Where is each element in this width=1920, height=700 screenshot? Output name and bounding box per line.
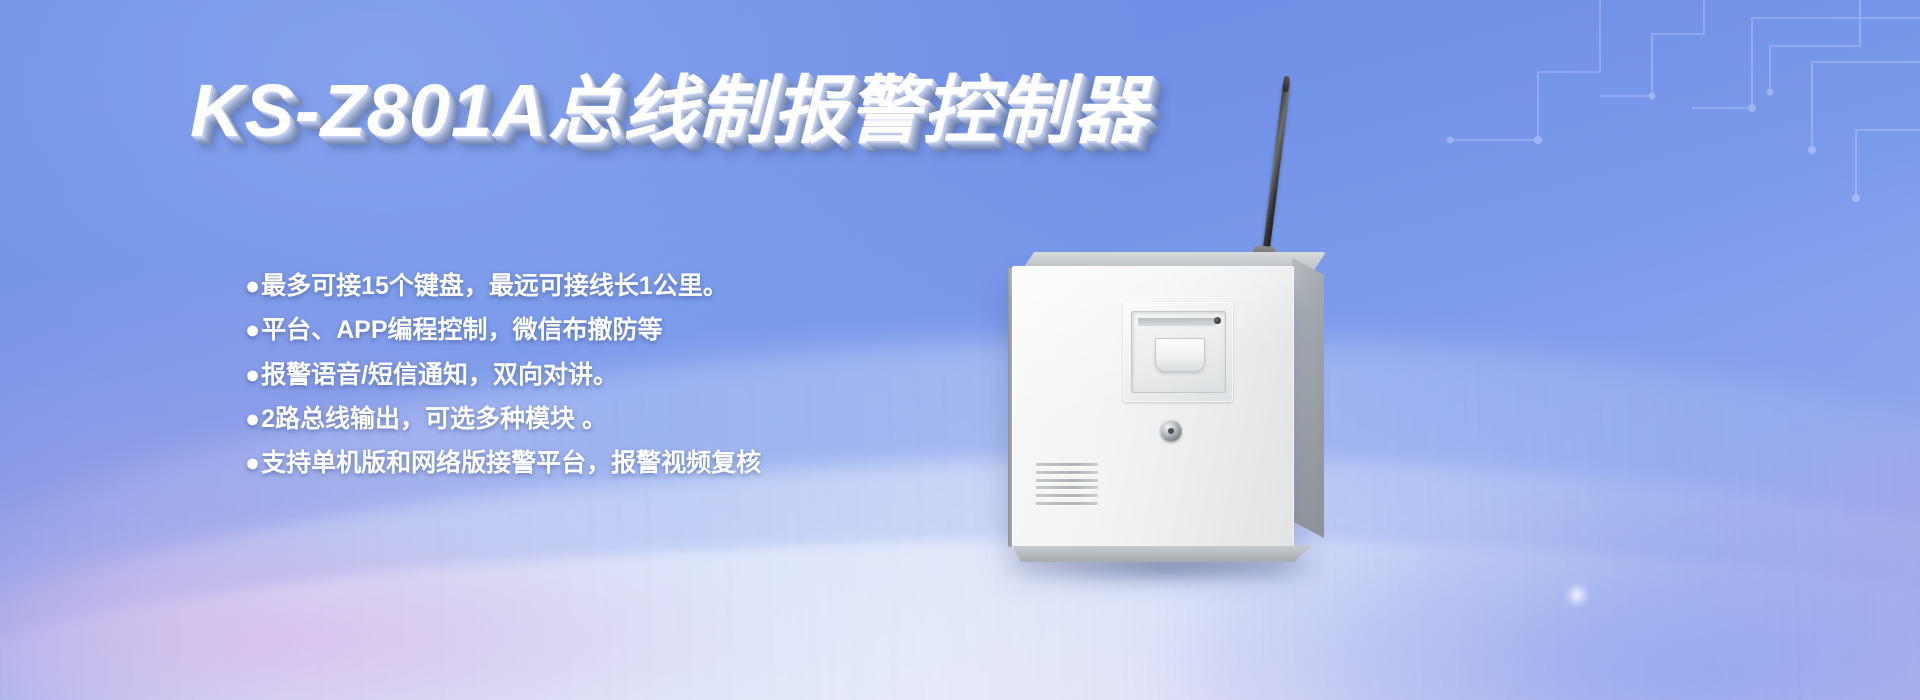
bullet-icon: ● [245, 362, 260, 388]
bullet-icon: ● [245, 273, 260, 299]
product-banner: KS-Z801A总线制报警控制器 ● 最多可接15个键盘，最远可接线长1公里。 … [0, 0, 1920, 700]
enclosure-side [1292, 258, 1324, 538]
feature-list: ● 最多可接15个键盘，最远可接线长1公里。 ● 平台、APP编程控制，微信布撤… [245, 273, 945, 494]
vent-slot [1036, 463, 1098, 466]
bullet-icon: ● [245, 406, 260, 432]
list-item-label: 最多可接15个键盘，最远可接线长1公里。 [261, 273, 728, 299]
keypad-handle [1155, 338, 1205, 372]
list-item: ● 报警语音/短信通知，双向对讲。 [245, 362, 945, 388]
bottom-light-sweep [0, 523, 1920, 700]
lock-keyhole-icon [1168, 428, 1174, 434]
enclosure-bottom [1012, 546, 1312, 562]
bullet-icon: ● [245, 317, 260, 343]
list-item-label: 平台、APP编程控制，微信布撤防等 [261, 317, 662, 343]
violet-glow [0, 520, 780, 700]
vent-slot [1036, 494, 1098, 497]
ventilation-louvers [1036, 463, 1098, 505]
vent-slot [1036, 479, 1098, 482]
vent-slot [1036, 486, 1098, 489]
vent-slot [1036, 471, 1098, 474]
status-led-icon [1214, 317, 1221, 324]
list-item-label: 支持单机版和网络版接警平台，报警视频复核 [261, 450, 761, 476]
keypad-display-slot [1138, 318, 1216, 326]
antenna-icon [1262, 81, 1290, 257]
list-item: ● 最多可接15个键盘，最远可接线长1公里。 [245, 273, 945, 299]
vent-slot [1036, 502, 1098, 505]
light-spark [1564, 582, 1590, 608]
list-item: ● 支持单机版和网络版接警平台，报警视频复核 [245, 450, 945, 476]
list-item-label: 2路总线输出，可选多种模块 。 [261, 406, 607, 432]
list-item: ● 平台、APP编程控制，微信布撤防等 [245, 317, 945, 343]
product-image [1000, 80, 1420, 580]
bullet-icon: ● [245, 450, 260, 476]
list-item-label: 报警语音/短信通知，双向对讲。 [261, 362, 618, 388]
list-item: ● 2路总线输出，可选多种模块 。 [245, 406, 945, 432]
